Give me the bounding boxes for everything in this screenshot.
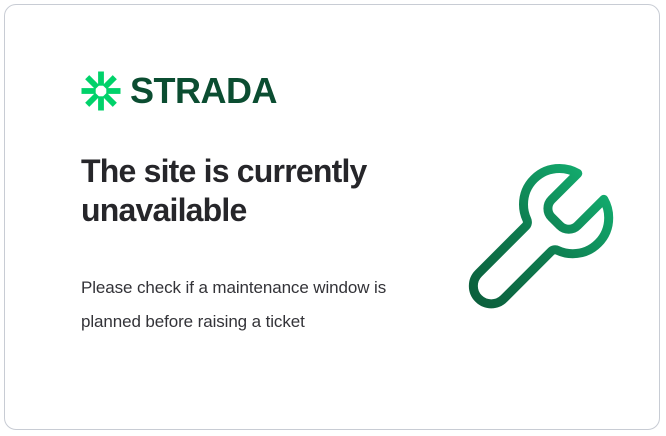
content-column: STRADA The site is currently unavailable… [81, 5, 441, 429]
page-title: The site is currently unavailable [81, 152, 411, 231]
brand-logo: STRADA [81, 71, 277, 111]
error-page-card: STRADA The site is currently unavailable… [4, 4, 660, 430]
asterisk-star-icon [81, 71, 121, 111]
wrench-illustration [460, 155, 620, 315]
wrench-icon [460, 155, 620, 315]
brand-wordmark: STRADA [130, 73, 277, 109]
page-description: Please check if a maintenance window is … [81, 271, 391, 339]
